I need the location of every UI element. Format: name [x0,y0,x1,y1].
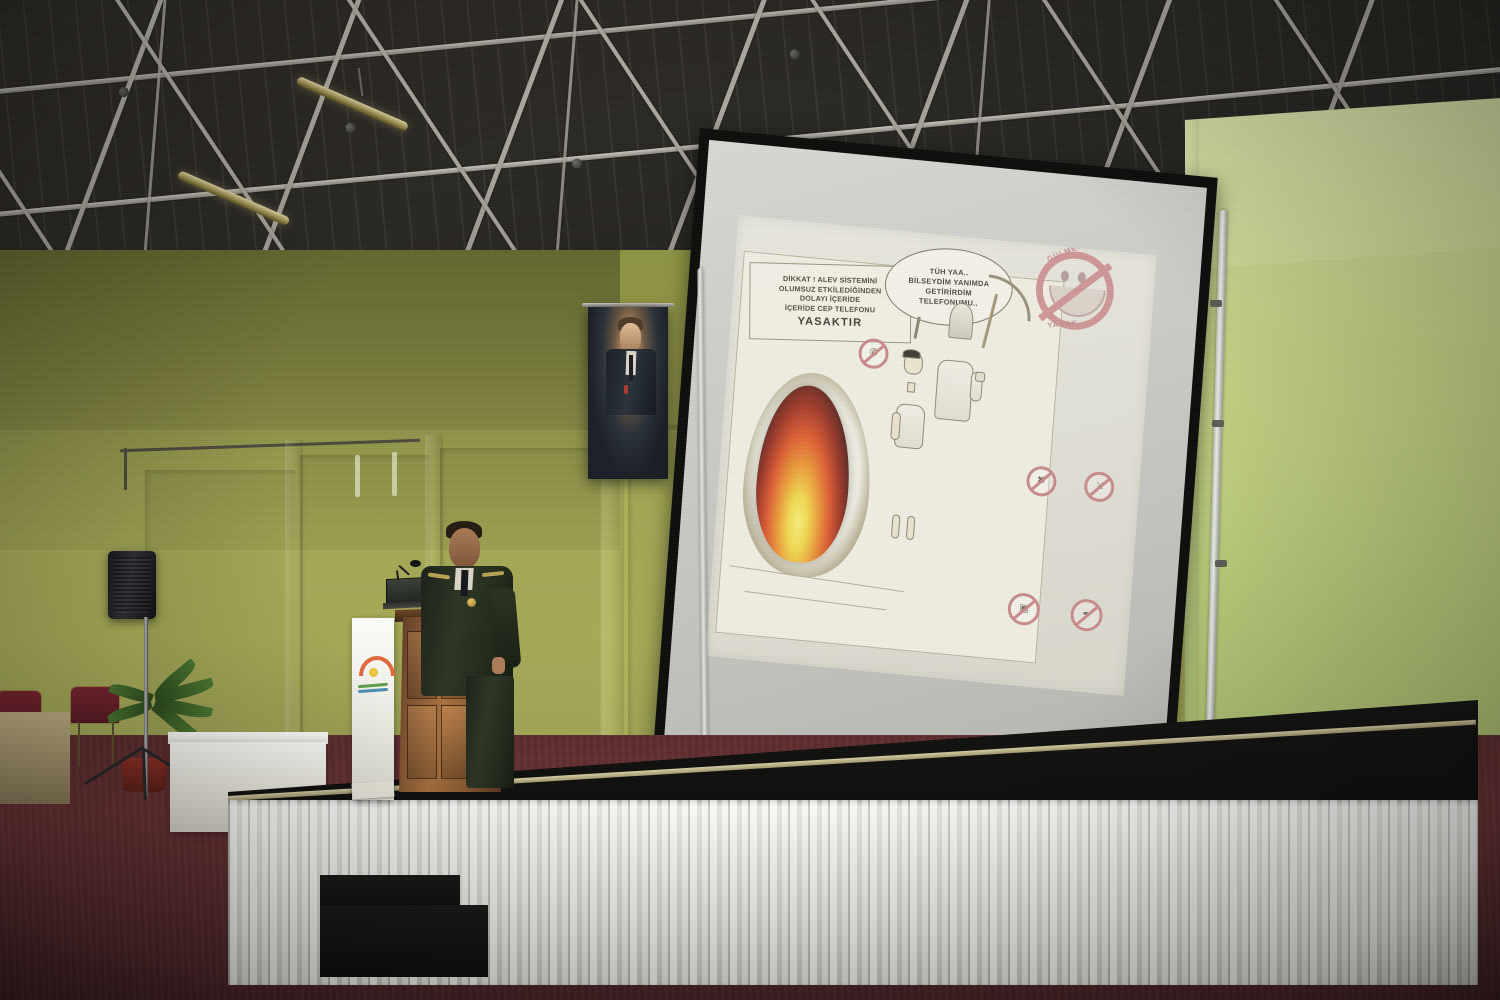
reaper-hand [975,371,986,382]
prohibition-slash [1012,599,1036,620]
speaker-badge [467,598,476,607]
conference-hall-photo: DİKKAT ! ALEV SİSTEMİNİ OLUMSUZ ETKİLEDİ… [0,0,1500,1000]
paper-on-stage [351,781,394,800]
speaker-hand [492,657,505,674]
pa-speaker [108,551,156,619]
mic-capsule [410,560,421,567]
man-neck [906,382,915,393]
notice-line-4: İÇERİDE CEP TELEFONU [785,302,875,314]
portrait-medal [624,385,628,394]
pole-clip [1210,300,1222,307]
bubble-line-4: TELEFONUMU.. [908,295,989,308]
speaker-grill [113,557,151,613]
logo-wave-blue [358,688,388,693]
no-pets-icon: ✒ [1070,598,1104,633]
speaker-head [449,528,480,568]
wall-conduit-drop [124,448,127,490]
no-laughing-sign: GÜLMEK YASAK [1033,248,1117,333]
wall-pilaster [285,440,303,775]
screen-surface: DİKKAT ! ALEV SİSTEMİNİ OLUMSUZ ETKİLEDİ… [664,140,1207,784]
reaper-robe [934,359,974,422]
no-weapons-icon: ⚔ [1084,470,1116,503]
pole-clip [1212,420,1224,427]
projected-slide: DİKKAT ! ALEV SİSTEMİNİ OLUMSUZ ETKİLEDİ… [705,215,1156,697]
chair-leg [78,722,80,766]
portrait-tie [629,355,633,381]
speaker-legs [466,676,514,788]
beige-draped-table [0,712,70,804]
wall-tie-strip [355,455,360,497]
projection-screen: DİKKAT ! ALEV SİSTEMİNİ OLUMSUZ ETKİLEDİ… [654,128,1218,796]
speaker-tie [461,570,469,596]
chair-leg [112,722,114,766]
podium-panel [407,705,437,779]
pole-clip [1215,560,1227,567]
notice-emphasis: YASAKTIR [797,314,862,330]
wall-recess [145,470,295,770]
logo-sun [369,668,378,677]
wall-tie-strip [392,452,397,496]
wall-right-upper-band [1185,97,1500,270]
podium-banner [352,618,394,800]
portrait-face [620,323,641,351]
prohibition-slash [1075,605,1099,626]
stage-step-lower [320,905,488,977]
